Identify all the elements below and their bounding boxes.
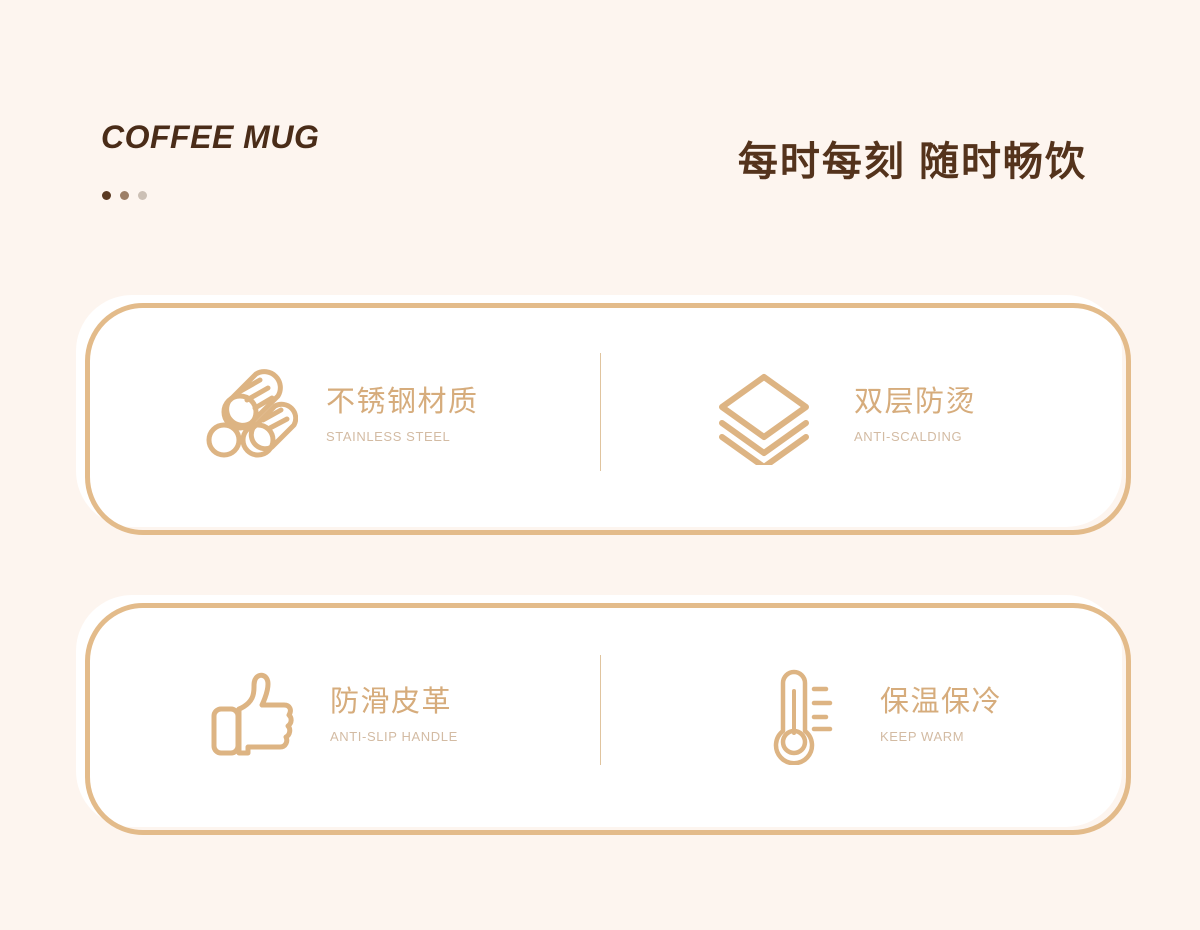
steel-pipes-icon	[196, 363, 300, 467]
page-header: COFFEE MUG 每时每刻 随时畅饮	[0, 0, 1200, 260]
feature-title: 防滑皮革	[330, 686, 458, 719]
layers-icon	[712, 363, 816, 467]
feature-subtitle: ANTI-SLIP HANDLE	[330, 729, 458, 744]
feature-subtitle: ANTI-SCALDING	[854, 429, 976, 444]
feature-text: 双层防烫 ANTI-SCALDING	[854, 386, 976, 443]
feature-text: 保温保冷 KEEP WARM	[880, 686, 1002, 743]
feature-divider	[600, 655, 601, 765]
feature-title: 双层防烫	[854, 386, 976, 419]
thermometer-icon	[742, 663, 846, 767]
page-title: COFFEE MUG	[101, 119, 319, 156]
dot-third	[138, 191, 147, 200]
product-feature-page: COFFEE MUG 每时每刻 随时畅饮	[0, 0, 1200, 930]
feature-subtitle: KEEP WARM	[880, 729, 1002, 744]
feature-anti-scalding: 双层防烫 ANTI-SCALDING	[606, 295, 1136, 535]
feature-stainless-steel: 不锈钢材质 STAINLESS STEEL	[76, 295, 606, 535]
feature-title: 不锈钢材质	[326, 386, 479, 419]
feature-card-2: 防滑皮革 ANTI-SLIP HANDLE	[76, 595, 1136, 835]
feature-text: 不锈钢材质 STAINLESS STEEL	[326, 386, 479, 443]
dot-indicator-group	[102, 191, 147, 200]
feature-subtitle: STAINLESS STEEL	[326, 429, 479, 444]
feature-keep-warm: 保温保冷 KEEP WARM	[606, 595, 1136, 835]
feature-text: 防滑皮革 ANTI-SLIP HANDLE	[330, 686, 458, 743]
dot-active	[102, 191, 111, 200]
card-body: 不锈钢材质 STAINLESS STEEL 双层防烫 ANTI-SCALDING	[76, 295, 1136, 535]
feature-divider	[600, 353, 601, 471]
headline-chinese: 每时每刻 随时畅饮	[738, 129, 1087, 187]
dot-second	[120, 191, 129, 200]
feature-anti-slip-handle: 防滑皮革 ANTI-SLIP HANDLE	[76, 595, 606, 835]
feature-title: 保温保冷	[880, 686, 1002, 719]
thumbs-up-icon	[200, 663, 304, 767]
feature-card-1: 不锈钢材质 STAINLESS STEEL 双层防烫 ANTI-SCALDING	[76, 295, 1136, 535]
card-body: 防滑皮革 ANTI-SLIP HANDLE	[76, 595, 1136, 835]
